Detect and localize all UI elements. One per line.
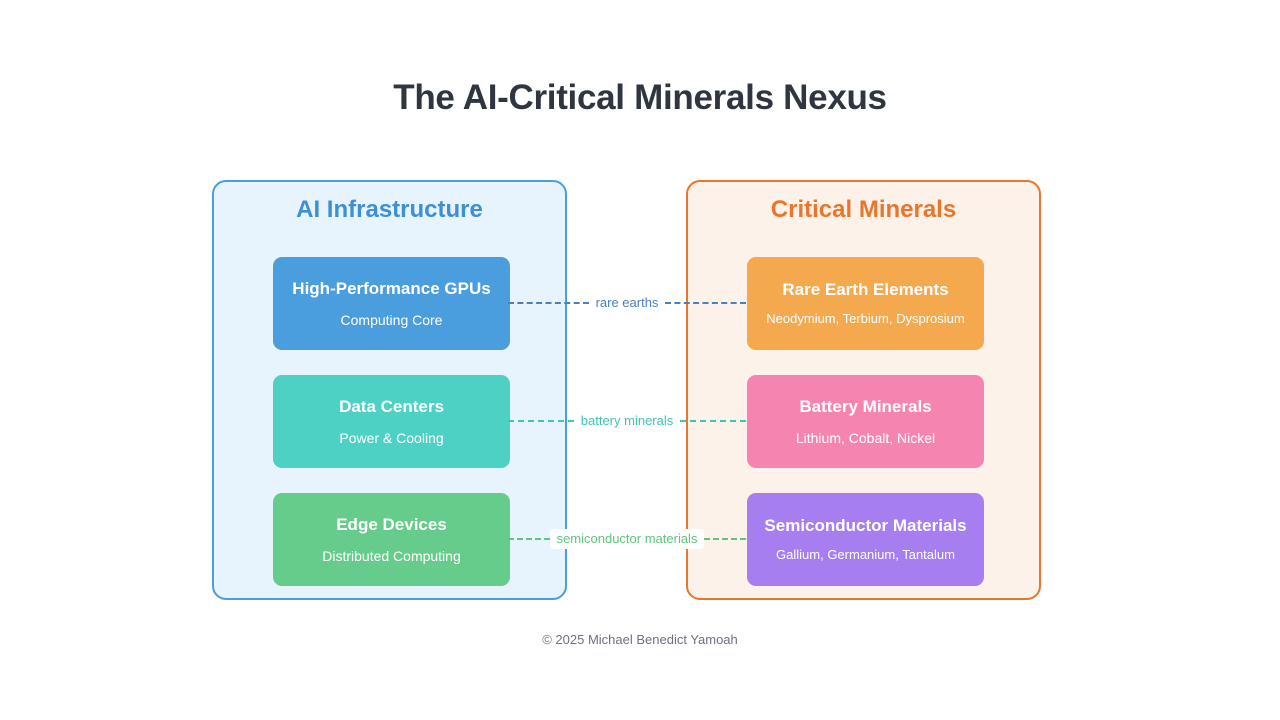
- card-rare-earth-elements[interactable]: Rare Earth Elements Neodymium, Terbium, …: [747, 257, 984, 350]
- connector-semiconductor-materials: semiconductor materials: [508, 529, 746, 549]
- card-title: Battery Minerals: [799, 397, 931, 417]
- connector-label: battery minerals: [574, 411, 680, 431]
- card-data-centers[interactable]: Data Centers Power & Cooling: [273, 375, 510, 468]
- card-battery-minerals[interactable]: Battery Minerals Lithium, Cobalt, Nickel: [747, 375, 984, 468]
- connector-battery-minerals: battery minerals: [508, 411, 746, 431]
- panel-title-ai-infrastructure: AI Infrastructure: [214, 196, 565, 224]
- card-title: Edge Devices: [336, 515, 447, 535]
- card-semiconductor-materials[interactable]: Semiconductor Materials Gallium, Germani…: [747, 493, 984, 586]
- dashed-line-left: [508, 302, 589, 304]
- card-subtitle: Neodymium, Terbium, Dysprosium: [766, 312, 964, 327]
- card-subtitle: Lithium, Cobalt, Nickel: [796, 430, 935, 446]
- connector-label: rare earths: [589, 293, 666, 313]
- footer-copyright: © 2025 Michael Benedict Yamoah: [0, 632, 1280, 647]
- diagram-canvas: The AI-Critical Minerals Nexus AI Infras…: [0, 0, 1280, 720]
- card-title: Rare Earth Elements: [782, 280, 948, 300]
- panel-title-critical-minerals: Critical Minerals: [688, 196, 1039, 224]
- card-title: Semiconductor Materials: [764, 516, 966, 536]
- page-title: The AI-Critical Minerals Nexus: [0, 78, 1280, 118]
- card-subtitle: Gallium, Germanium, Tantalum: [776, 548, 955, 563]
- dashed-line-right: [680, 420, 746, 422]
- connector-label: semiconductor materials: [550, 529, 705, 549]
- card-title: High-Performance GPUs: [292, 279, 490, 299]
- dashed-line-left: [508, 420, 574, 422]
- card-title: Data Centers: [339, 397, 444, 417]
- card-subtitle: Power & Cooling: [339, 430, 443, 446]
- card-edge-devices[interactable]: Edge Devices Distributed Computing: [273, 493, 510, 586]
- connector-rare-earths: rare earths: [508, 293, 746, 313]
- dashed-line-right: [665, 302, 746, 304]
- card-high-performance-gpus[interactable]: High-Performance GPUs Computing Core: [273, 257, 510, 350]
- card-subtitle: Distributed Computing: [322, 548, 461, 564]
- dashed-line-right: [704, 538, 746, 540]
- dashed-line-left: [508, 538, 550, 540]
- card-subtitle: Computing Core: [341, 312, 443, 328]
